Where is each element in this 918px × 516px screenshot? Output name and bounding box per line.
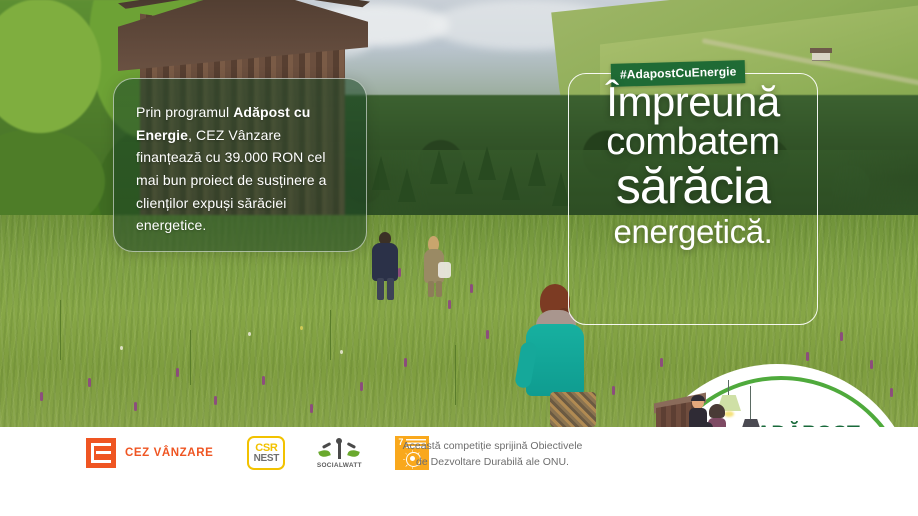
far-house-roof — [810, 48, 832, 53]
meadow-flower — [40, 392, 43, 401]
meadow-flower — [176, 368, 179, 377]
shopping-bag — [438, 262, 451, 278]
meadow-flower — [340, 350, 343, 354]
conifer-tree — [455, 160, 473, 194]
cez-logo-label: CEZ VÂNZARE — [125, 447, 213, 459]
person-walking-man — [368, 232, 402, 300]
meadow-flower — [120, 346, 123, 350]
program-description-card: Prin programul Adăpost cu Energie, CEZ V… — [113, 78, 367, 252]
conifer-tree — [478, 146, 496, 180]
program-description-text: Prin programul Adăpost cu Energie, CEZ V… — [136, 101, 348, 237]
meadow-flower — [404, 358, 407, 367]
headline-line-2: combatem — [562, 125, 824, 161]
conifer-tree — [430, 150, 448, 184]
far-house — [812, 52, 830, 60]
meadow-flower — [248, 332, 251, 336]
meadow-flower — [612, 386, 615, 395]
meadow-flower — [470, 284, 473, 293]
grass-stalk — [60, 300, 61, 360]
meadow-flower — [262, 376, 265, 385]
card-text-lead: Prin programul — [136, 104, 233, 120]
conifer-tree — [502, 166, 520, 200]
meadow-flower — [806, 352, 809, 361]
conifer-tree — [528, 152, 546, 186]
campaign-banner: Prin programul Adăpost cu Energie, CEZ V… — [0, 0, 918, 516]
headline-line-3: sărăcia — [562, 163, 824, 210]
meadow-flower — [360, 382, 363, 391]
footer-note-line-1: Această competiție sprijină Obiectivele — [385, 439, 600, 455]
lamp-cord — [750, 386, 751, 420]
meadow-flower — [214, 396, 217, 405]
lamp-cord — [728, 380, 729, 396]
logo-cez-vanzare[interactable]: CEZ VÂNZARE — [86, 438, 213, 468]
logo-socialwatt[interactable]: SOCIALWATT — [313, 438, 365, 469]
person-walking-woman — [420, 236, 448, 296]
logo-csr-nest[interactable]: CSR NEST — [247, 436, 285, 470]
headline-line-1: Împreună — [562, 82, 824, 121]
grass-stalk — [330, 310, 331, 360]
socialwatt-label: SOCIALWATT — [313, 462, 365, 469]
footer-note: Această competiție sprijină Obiectivele … — [385, 439, 600, 471]
footer-note-line-2: de Dezvoltare Durabilă ale ONU. — [385, 455, 600, 471]
meadow-flower — [840, 332, 843, 341]
csr-nest-icon: CSR NEST — [247, 436, 285, 470]
patterned-skirt — [550, 392, 596, 427]
meadow-flower — [88, 378, 91, 387]
card-bold-adapost: Adăpost — [233, 104, 290, 120]
partner-logos: CEZ VÂNZARE CSR NEST SOCIALWATT 7 — [86, 436, 429, 470]
meadow-flower — [486, 330, 489, 339]
socialwatt-tree-icon — [313, 438, 365, 462]
headline: Împreună combatem sărăcia energetică. — [562, 82, 824, 247]
meadow-flower — [448, 300, 451, 309]
conifer-tree — [398, 168, 416, 202]
csr-nest-line-1: CSR — [255, 443, 277, 454]
grass-stalk — [455, 345, 456, 405]
cez-logo-icon — [86, 438, 116, 468]
csr-nest-line-2: NEST — [254, 454, 279, 464]
meadow-flower — [310, 404, 313, 413]
headline-line-4: energetică. — [562, 216, 824, 247]
meadow-flower — [134, 402, 137, 411]
grass-stalk — [190, 330, 191, 385]
meadow-flower — [300, 326, 303, 330]
